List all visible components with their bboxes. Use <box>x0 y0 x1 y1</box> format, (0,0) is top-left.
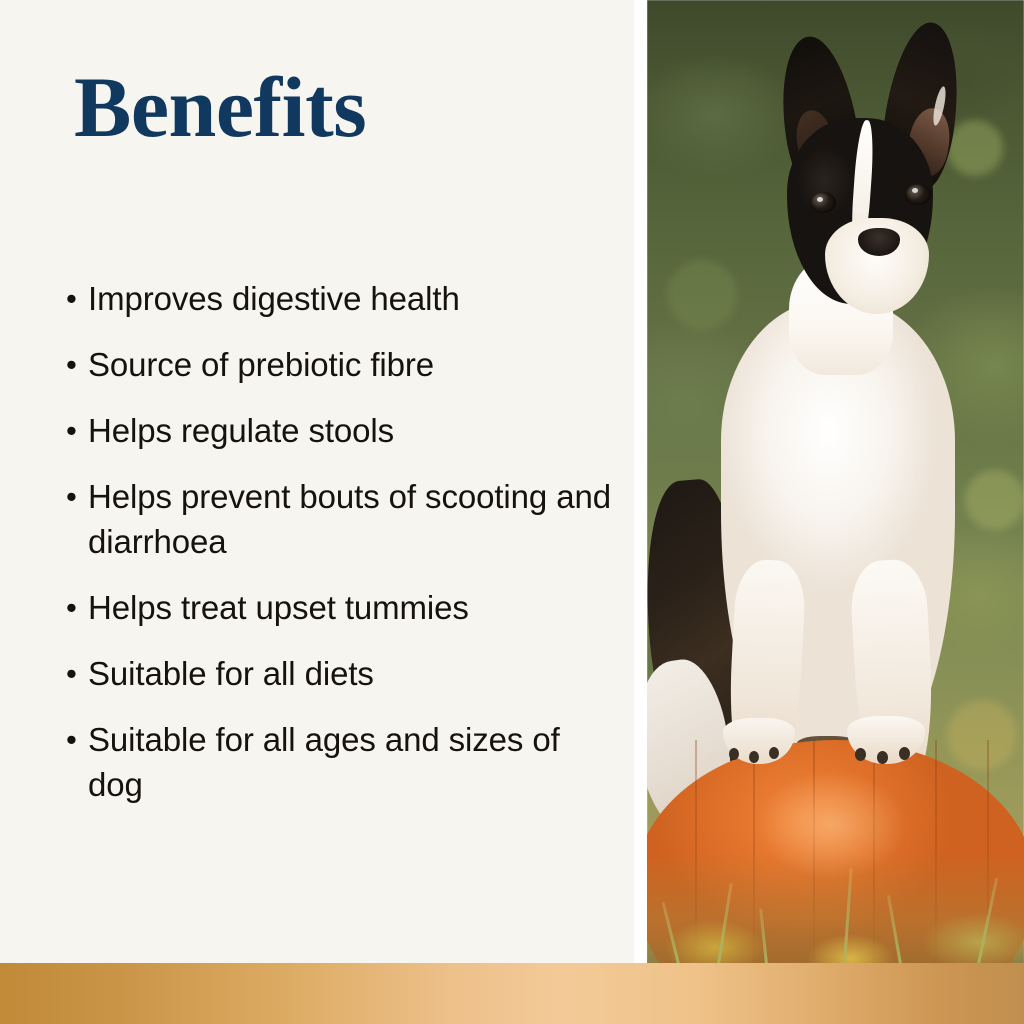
grass-blade <box>759 908 768 964</box>
benefit-text: Suitable for all diets <box>88 651 611 696</box>
benefit-list-item: •Source of prebiotic fibre <box>66 342 611 387</box>
bottom-gold-bar <box>0 963 1024 1024</box>
dog-eye-left <box>810 192 836 213</box>
grass-blade <box>717 883 733 964</box>
paw-nail <box>749 751 759 763</box>
benefit-list-item: •Helps treat upset tummies <box>66 585 611 630</box>
bullet-icon: • <box>66 651 88 696</box>
benefit-list-item: •Suitable for all ages and sizes of dog <box>66 717 611 807</box>
benefit-list-item: •Helps prevent bouts of scooting and dia… <box>66 474 611 564</box>
grass-blade <box>662 902 680 964</box>
bullet-icon: • <box>66 276 88 321</box>
autumn-leaves-foreground <box>647 854 1024 964</box>
benefits-panel: Benefits •Improves digestive health•Sour… <box>0 0 634 964</box>
bokeh-spot <box>667 260 737 330</box>
bullet-icon: • <box>66 342 88 387</box>
benefit-text: Helps regulate stools <box>88 408 611 453</box>
benefit-text: Suitable for all ages and sizes of dog <box>88 717 611 807</box>
benefit-list-item: •Suitable for all diets <box>66 651 611 696</box>
dog-pumpkin-photo <box>647 0 1024 964</box>
paw-nail <box>877 751 888 764</box>
bullet-icon: • <box>66 408 88 453</box>
gold-divider <box>72 190 572 197</box>
benefit-text: Helps prevent bouts of scooting and diar… <box>88 474 611 564</box>
paw-nail <box>855 748 866 761</box>
bokeh-spot <box>947 700 1017 770</box>
paw-nail <box>729 748 739 760</box>
bokeh-spot <box>965 470 1024 530</box>
dog-eye-right <box>905 184 931 205</box>
panel-gutter <box>634 0 647 964</box>
page-title: Benefits <box>74 64 366 150</box>
bullet-icon: • <box>66 474 88 519</box>
grass-blade <box>843 868 853 964</box>
paw-nail <box>769 747 779 759</box>
bullet-icon: • <box>66 717 88 762</box>
eye-glint <box>817 197 823 202</box>
bullet-icon: • <box>66 585 88 630</box>
benefit-text: Improves digestive health <box>88 276 611 321</box>
eye-glint <box>912 188 918 193</box>
benefit-text: Helps treat upset tummies <box>88 585 611 630</box>
benefit-list-item: •Helps regulate stools <box>66 408 611 453</box>
benefit-list-item: •Improves digestive health <box>66 276 611 321</box>
paw-nail <box>899 747 910 760</box>
benefits-list: •Improves digestive health•Source of pre… <box>66 276 611 828</box>
poster-canvas: Benefits •Improves digestive health•Sour… <box>0 0 1024 1024</box>
bokeh-spot <box>947 120 1003 176</box>
grass-blade <box>887 895 902 964</box>
benefit-text: Source of prebiotic fibre <box>88 342 611 387</box>
grass-blade <box>977 878 998 964</box>
